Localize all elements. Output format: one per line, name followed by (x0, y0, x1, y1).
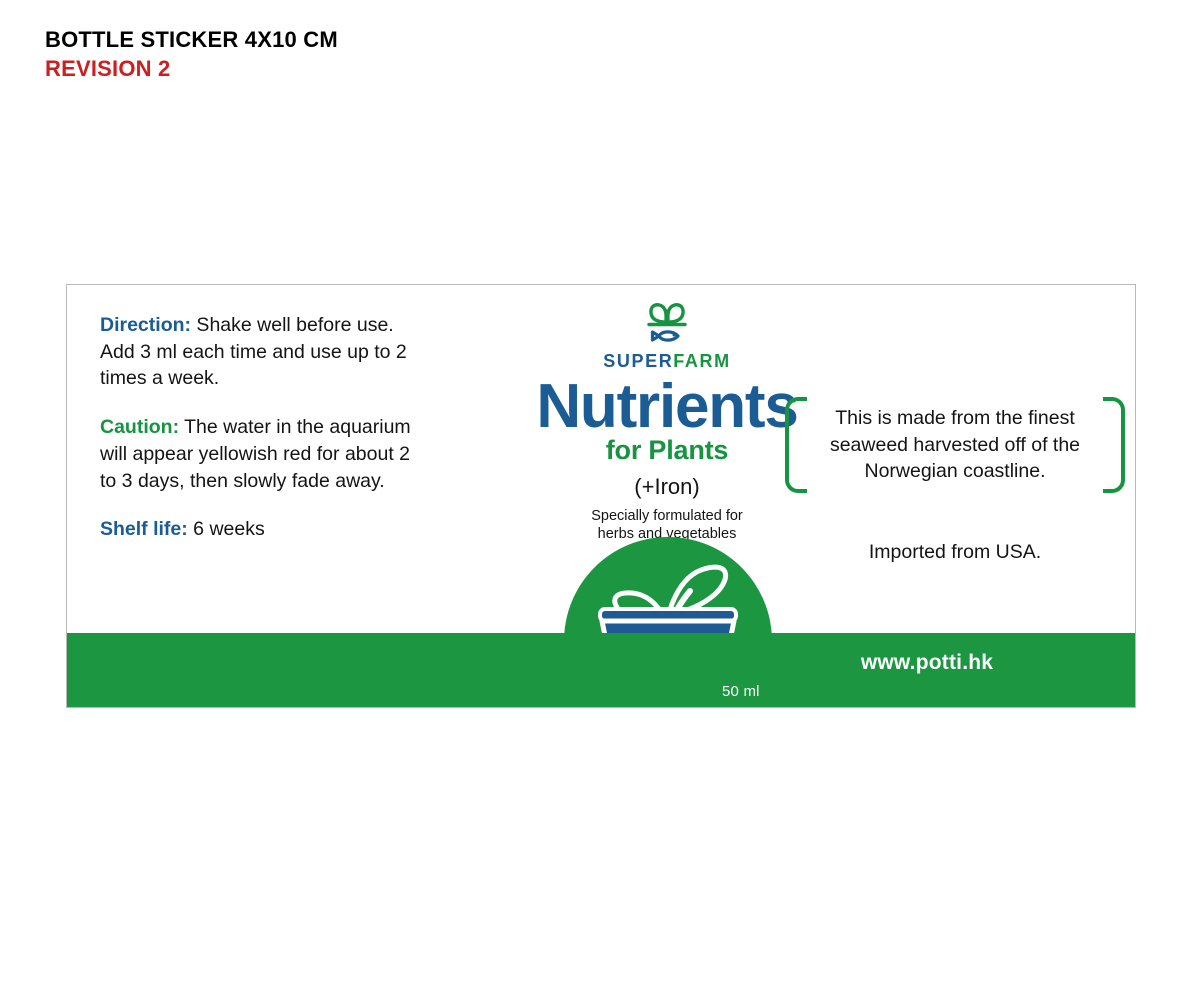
shelf-life-text: 6 weeks (188, 518, 265, 540)
document-header: BOTTLE STICKER 4X10 CM REVISION 2 (45, 25, 645, 83)
brand-wordmark: SUPERFARM (447, 351, 887, 372)
caution-label: Caution: (100, 416, 179, 438)
website-url: www.potti.hk (861, 651, 993, 674)
footer-green-band: www.potti.hk 50 ml (67, 633, 1135, 707)
imported-from-text: Imported from USA. (785, 541, 1125, 564)
label-right-column: This is made from the finest seaweed har… (785, 397, 1125, 564)
brand-wordmark-farm: FARM (673, 351, 730, 371)
volume-text: 50 ml (722, 683, 760, 700)
label-left-column: Direction: Shake well before use. Add 3 … (100, 312, 430, 543)
website-wrapper: www.potti.hk (707, 651, 1136, 675)
left-bracket-icon (785, 397, 807, 493)
right-bracket-icon (1103, 397, 1125, 493)
bottle-sticker-artboard: Direction: Shake well before use. Add 3 … (66, 284, 1136, 708)
shelf-life-label: Shelf life: (100, 518, 188, 540)
sprout-and-fish-icon (447, 301, 887, 349)
document-title: BOTTLE STICKER 4X10 CM (45, 25, 645, 54)
brand-wordmark-super: SUPER (603, 351, 673, 371)
seaweed-origin-text: This is made from the finest seaweed har… (815, 405, 1095, 485)
direction-paragraph: Direction: Shake well before use. Add 3 … (100, 312, 430, 392)
caution-paragraph: Caution: The water in the aquarium will … (100, 414, 430, 494)
direction-label: Direction: (100, 314, 191, 336)
seaweed-origin-callout: This is made from the finest seaweed har… (785, 397, 1125, 493)
document-revision: REVISION 2 (45, 54, 645, 83)
shelf-life-paragraph: Shelf life: 6 weeks (100, 516, 430, 543)
